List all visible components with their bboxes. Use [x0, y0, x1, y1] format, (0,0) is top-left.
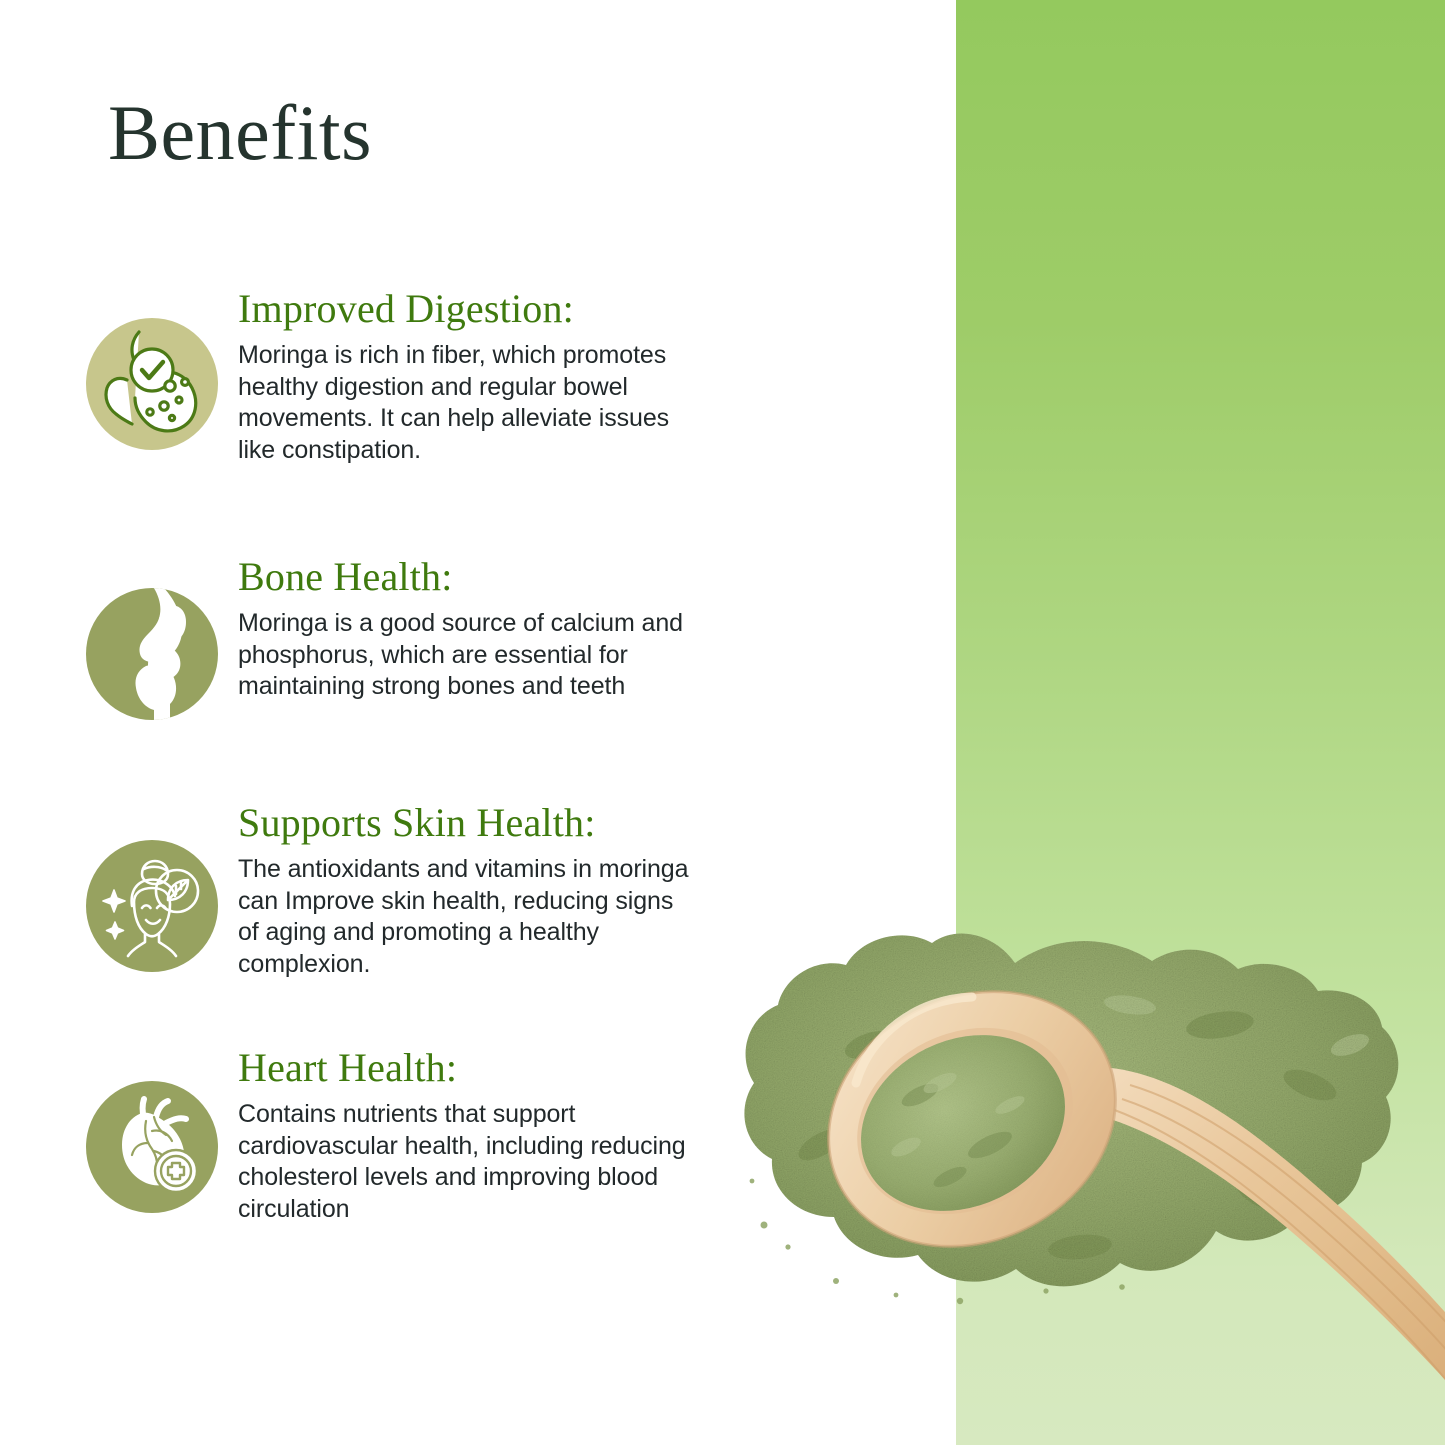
anatomical-heart-cross-icon: [82, 1077, 222, 1217]
page-title: Benefits: [108, 94, 372, 172]
benefits-content-column: Benefits: [0, 0, 956, 1445]
benefit-heading: Bone Health:: [238, 556, 693, 598]
benefit-body: Moringa is rich in fiber, which promotes…: [238, 340, 693, 466]
benefit-heading: Improved Digestion:: [238, 288, 693, 330]
benefit-item-bone-health: Bone Health: Moringa is a good source of…: [82, 554, 702, 724]
benefit-text-block: Improved Digestion: Moringa is rich in f…: [238, 286, 693, 466]
stomach-check-icon: [82, 314, 222, 454]
benefit-text-block: Heart Health: Contains nutrients that su…: [238, 1045, 693, 1225]
benefit-text-block: Supports Skin Health: The antioxidants a…: [238, 800, 693, 980]
benefit-body: The antioxidants and vitamins in moringa…: [238, 854, 693, 980]
benefit-text-block: Bone Health: Moringa is a good source of…: [238, 554, 693, 703]
face-leaf-sparkle-icon: [82, 836, 222, 976]
benefits-poster: Benefits: [0, 0, 1445, 1445]
benefit-item-improved-digestion: Improved Digestion: Moringa is rich in f…: [82, 286, 702, 466]
benefit-body: Moringa is a good source of calcium and …: [238, 608, 693, 703]
accent-green-panel: [956, 0, 1445, 1445]
benefit-item-supports-skin-health: Supports Skin Health: The antioxidants a…: [82, 800, 702, 980]
knee-bone-joint-icon: [82, 584, 222, 724]
benefit-heading: Heart Health:: [238, 1047, 693, 1089]
benefit-heading: Supports Skin Health:: [238, 802, 693, 844]
benefit-body: Contains nutrients that support cardiova…: [238, 1099, 693, 1225]
benefit-item-heart-health: Heart Health: Contains nutrients that su…: [82, 1045, 702, 1225]
